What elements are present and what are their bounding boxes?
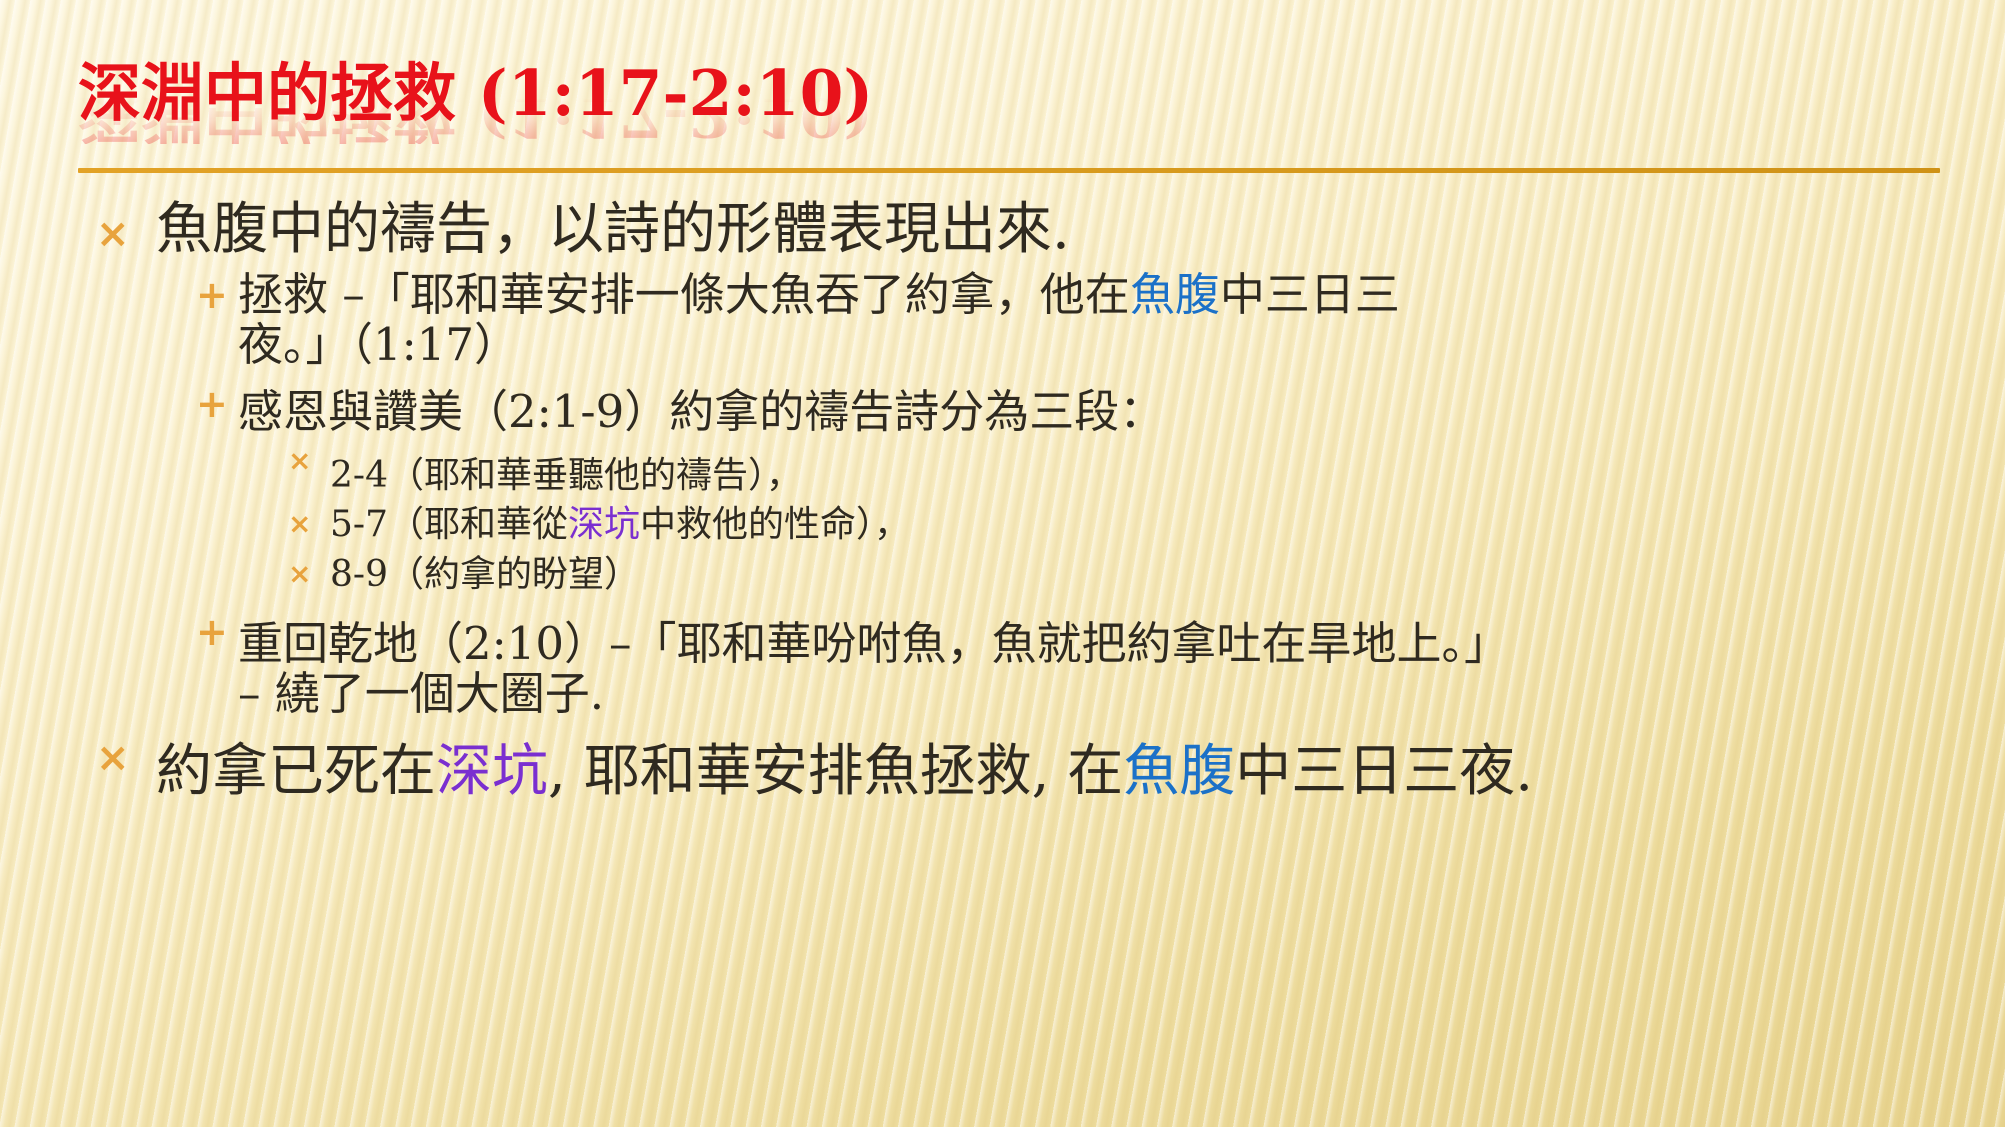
bullet-cross-icon: ×	[288, 510, 311, 538]
list-item-text-a: 約拿已死在	[156, 739, 436, 804]
list-item-text: 2-4（耶和華垂聽他的禱告），	[330, 455, 802, 496]
bullet-plus-icon: +	[196, 613, 228, 651]
bullet-plus-icon: +	[196, 385, 228, 423]
page-title: 深淵中的拯救 (1:17-2:10)	[78, 62, 873, 125]
list-item-text-b: 中救他的性命），	[640, 504, 910, 545]
list-item-text-c: 中三日三夜.	[1235, 739, 1533, 804]
list-item-text: 8-9（約拿的盼望）	[330, 554, 640, 595]
list-item-line: 拯救 –「耶和華安排一條大魚吞了約拿，他在魚腹中三日三	[238, 270, 2005, 320]
list-item-text: 魚腹中的禱告，以詩的形體表現出來.	[156, 197, 1070, 262]
list-item-text-b: 中三日三	[1220, 268, 1400, 321]
list-item-line: 夜。」（1:17）	[238, 320, 2005, 370]
bullet-cross-icon: ×	[96, 214, 130, 254]
bullet-cross-icon: ×	[288, 560, 311, 588]
list-item-text-a: 5-7（耶和華從	[330, 504, 568, 545]
list-item: × 8-9（約拿的盼望）	[0, 552, 2005, 597]
title-underline-rule	[78, 168, 1940, 173]
list-item-text-a: 拯救 –「耶和華安排一條大魚吞了約拿，他在	[238, 268, 1130, 321]
highlight-deep-pit: 深坑	[568, 504, 640, 545]
list-item: + 重回乾地（2:10）–「耶和華吩咐魚，魚就把約拿吐在旱地上。」 – 繞了一個…	[0, 601, 2005, 720]
list-item: + 感恩與讚美（2:1-9）約拿的禱告詩分為三段：	[0, 373, 2005, 437]
slide-canvas: 深淵中的拯救 (1:17-2:10) 深淵中的拯救 (1:17-2:10) × …	[0, 0, 2005, 1127]
list-item-text: 感恩與讚美（2:1-9）約拿的禱告詩分為三段：	[238, 385, 1164, 438]
list-item-text-b: , 耶和華安排魚拯救, 在	[548, 739, 1123, 804]
list-item: × 5-7（耶和華從深坑中救他的性命），	[0, 502, 2005, 547]
bullet-cross-icon: ×	[96, 738, 130, 778]
list-item: + 拯救 –「耶和華安排一條大魚吞了約拿，他在魚腹中三日三 夜。」（1:17）	[0, 264, 2005, 371]
list-item: × 魚腹中的禱告，以詩的形體表現出來.	[0, 198, 2005, 262]
highlight-fish-belly: 魚腹	[1123, 739, 1235, 804]
list-item-line: 重回乾地（2:10）–「耶和華吩咐魚，魚就把約拿吐在旱地上。」	[238, 619, 2005, 669]
highlight-deep-pit: 深坑	[436, 739, 548, 804]
list-item-line: – 繞了一個大圈子.	[238, 669, 2005, 719]
slide-body: × 魚腹中的禱告，以詩的形體表現出來. + 拯救 –「耶和華安排一條大魚吞了約拿…	[0, 198, 2005, 806]
bullet-cross-icon: ×	[288, 447, 311, 475]
slide-title-container: 深淵中的拯救 (1:17-2:10) 深淵中的拯救 (1:17-2:10)	[78, 62, 1938, 182]
list-item: × 2-4（耶和華垂聽他的禱告），	[0, 439, 2005, 498]
bullet-plus-icon: +	[196, 276, 228, 314]
list-item: × 約拿已死在深坑, 耶和華安排魚拯救, 在魚腹中三日三夜.	[0, 722, 2005, 804]
highlight-fish-belly: 魚腹	[1130, 268, 1220, 321]
